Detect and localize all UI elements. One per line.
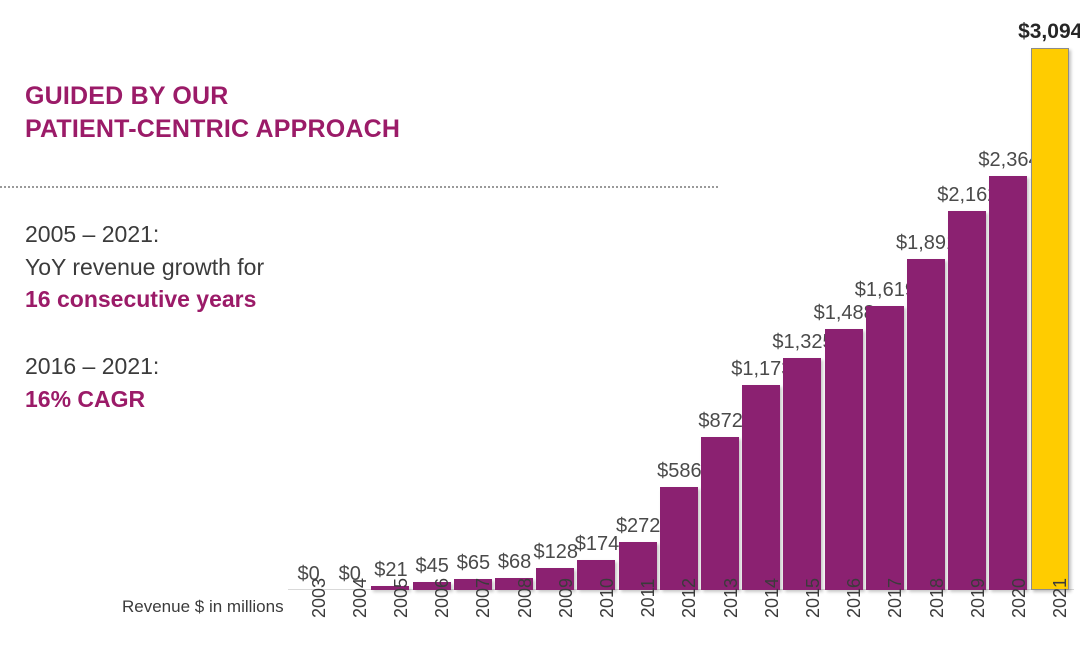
bar-slot: $2722011: [618, 0, 659, 590]
bar-slot: $1742010: [576, 0, 617, 590]
x-axis-tick-2012: 2012: [679, 578, 700, 618]
bar-2015[interactable]: [783, 358, 821, 590]
x-axis-tick-2014: 2014: [762, 578, 783, 618]
bar-2013[interactable]: [701, 437, 739, 590]
slide-canvas: GUIDED BY OUR PATIENT-CENTRIC APPROACH 2…: [0, 0, 1080, 665]
x-axis-tick-2017: 2017: [885, 578, 906, 618]
bar-value-label-2011: $272: [616, 515, 661, 538]
bar-slot: $452006: [412, 0, 453, 590]
x-axis-tick-2013: 2013: [721, 578, 742, 618]
bar-slot: $212005: [370, 0, 411, 590]
bar-2016[interactable]: [825, 329, 863, 590]
bar-slot: $02003: [288, 0, 329, 590]
bar-slot: $1,3252015: [782, 0, 823, 590]
bar-value-label-2006: $45: [416, 555, 449, 578]
bar-2017[interactable]: [866, 306, 904, 590]
x-axis-tick-2003: 2003: [309, 578, 330, 618]
bar-value-label-2013: $872: [698, 410, 743, 433]
bar-2021[interactable]: [1031, 48, 1069, 590]
bar-slot: $2,3642020: [988, 0, 1029, 590]
bar-value-label-2007: $65: [457, 552, 490, 575]
bar-slot: $8722013: [700, 0, 741, 590]
x-axis-tick-2020: 2020: [1009, 578, 1030, 618]
bar-slot: $2,1622019: [947, 0, 988, 590]
x-axis-tick-2004: 2004: [350, 578, 371, 618]
x-axis-tick-2010: 2010: [597, 578, 618, 618]
bar-slot: $1,6192017: [865, 0, 906, 590]
x-axis-tick-2016: 2016: [844, 578, 865, 618]
bar-2018[interactable]: [907, 259, 945, 590]
bar-slot: $682008: [494, 0, 535, 590]
bar-slot: $1282009: [535, 0, 576, 590]
bar-slot: $02004: [329, 0, 370, 590]
bar-value-label-2012: $586: [657, 460, 702, 483]
bar-slot: $1,1732014: [741, 0, 782, 590]
x-axis-tick-2008: 2008: [515, 578, 536, 618]
bar-2020[interactable]: [989, 176, 1027, 590]
bar-value-label-2009: $128: [534, 541, 579, 564]
revenue-bar-chart: $02003$02004$212005$452006$652007$682008…: [0, 0, 1080, 665]
bar-2014[interactable]: [742, 385, 780, 590]
bar-slot: $1,8912018: [906, 0, 947, 590]
bar-2019[interactable]: [948, 211, 986, 590]
x-axis-tick-2006: 2006: [432, 578, 453, 618]
x-axis-tick-2019: 2019: [968, 578, 989, 618]
x-axis-tick-2021: 2021: [1050, 578, 1071, 618]
x-axis-tick-2018: 2018: [927, 578, 948, 618]
bar-value-label-2008: $68: [498, 551, 531, 574]
bar-value-label-2021: $3,094: [1018, 20, 1080, 44]
axis-caption: Revenue $ in millions: [122, 597, 284, 617]
bar-slot: $3,0942021: [1030, 0, 1071, 590]
x-axis-tick-2015: 2015: [803, 578, 824, 618]
bar-slot: $652007: [453, 0, 494, 590]
x-axis-tick-2005: 2005: [391, 578, 412, 618]
chart-plot-area: $02003$02004$212005$452006$652007$682008…: [288, 0, 1078, 590]
x-axis-tick-2007: 2007: [473, 578, 494, 618]
x-axis-tick-2011: 2011: [638, 579, 659, 618]
bar-slot: $5862012: [659, 0, 700, 590]
bar-value-label-2010: $174: [575, 533, 620, 556]
x-axis-tick-2009: 2009: [556, 578, 577, 618]
bar-2012[interactable]: [660, 487, 698, 590]
